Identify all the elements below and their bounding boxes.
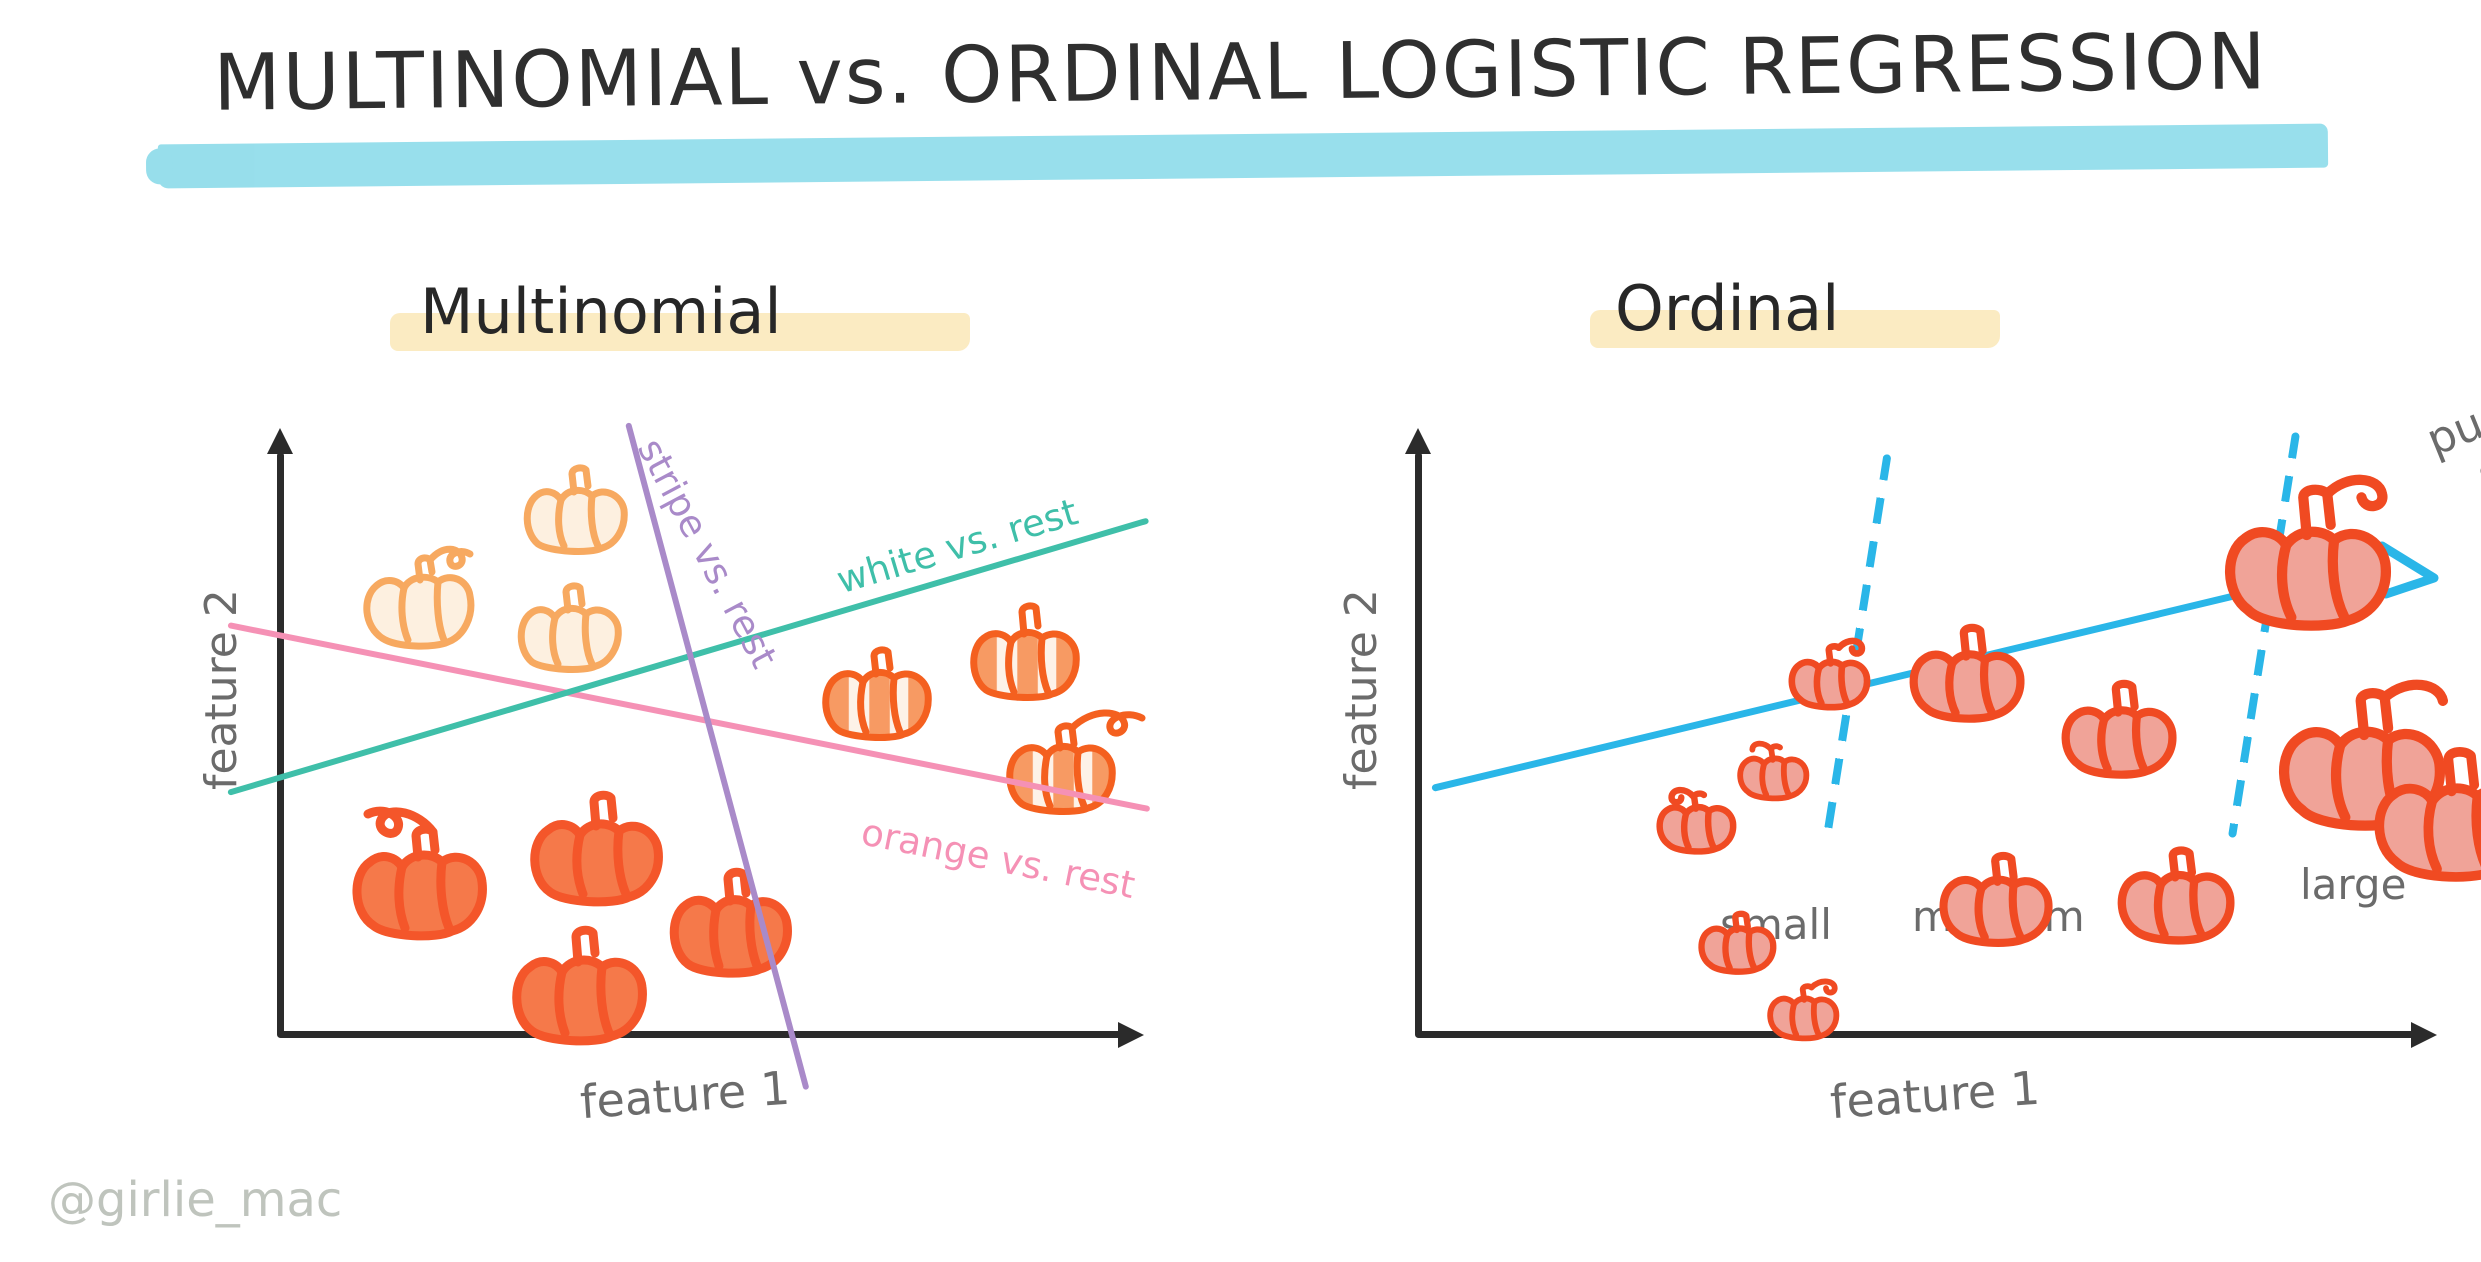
pumpkin-red-large-3	[2360, 730, 2481, 898]
ordinal-heading: Ordinal	[1615, 272, 1839, 345]
boundary-label-stripe-vs-rest: stripe vs. rest	[629, 431, 786, 675]
pumpkin-red-small-5	[1762, 972, 1842, 1048]
pumpkin-red-medium-1	[1900, 612, 2030, 734]
pumpkin-stripe-2	[960, 590, 1090, 712]
ordinal-y-axis-label: feature 2	[1336, 589, 1387, 790]
pumpkin-red-medium-3	[1930, 838, 2058, 958]
ordinal-heading-wrap: Ordinal	[1615, 272, 1839, 345]
pumpkin-white-1	[352, 530, 492, 660]
pumpkin-orange-2	[520, 772, 680, 920]
pumpkin-orange-4	[660, 850, 810, 990]
pumpkin-size-label-line1: pumpkin	[2420, 348, 2481, 467]
pumpkin-red-medium-2	[2052, 668, 2182, 790]
pumpkin-red-large-1	[2210, 470, 2400, 648]
pumpkin-white-2	[516, 452, 636, 564]
ordinal-x-axis-label: feature 1	[1828, 1061, 2041, 1130]
multinomial-x-axis-label: feature 1	[578, 1061, 791, 1130]
ordinal-x-axis	[1415, 1031, 2415, 1038]
pumpkin-red-small-1	[1650, 778, 1740, 862]
boundary-label-white-vs-rest: white vs. rest	[832, 490, 1083, 602]
pumpkin-red-small-4	[1692, 900, 1780, 982]
panel-multinomial: Multinomial feature 2 feature 1	[0, 0, 1240, 1262]
author-signature: @girlie_mac	[48, 1172, 342, 1228]
pumpkin-size-label: pumpkin size	[2420, 348, 2481, 514]
pumpkin-stripe-1	[812, 630, 942, 752]
ordinal-x-axis-arrow	[2411, 1022, 2437, 1048]
panel-ordinal: Ordinal feature 2 feature 1 pumpkin size…	[1240, 0, 2481, 1262]
pumpkin-red-small-2	[1732, 732, 1812, 808]
multinomial-x-axis	[277, 1031, 1122, 1038]
multinomial-heading-wrap: Multinomial	[420, 275, 782, 348]
ordinal-y-axis-arrow	[1405, 428, 1431, 454]
pumpkin-stripe-3	[1000, 700, 1160, 830]
multinomial-y-axis-label: feature 2	[196, 589, 247, 790]
ordinal-y-axis	[1415, 452, 1422, 1037]
multinomial-heading: Multinomial	[420, 275, 782, 348]
pumpkin-red-medium-4	[2108, 832, 2240, 956]
pumpkin-orange-1	[340, 800, 510, 955]
pumpkin-red-small-3	[1782, 632, 1874, 718]
pumpkin-white-3	[510, 570, 630, 682]
pumpkin-orange-3	[500, 905, 670, 1060]
multinomial-y-axis-arrow	[267, 428, 293, 454]
illustration-canvas: MULTINOMIAL vs. ORDINAL LOGISTIC REGRESS…	[0, 0, 2481, 1262]
multinomial-y-axis	[277, 452, 284, 1037]
multinomial-x-axis-arrow	[1118, 1022, 1144, 1048]
